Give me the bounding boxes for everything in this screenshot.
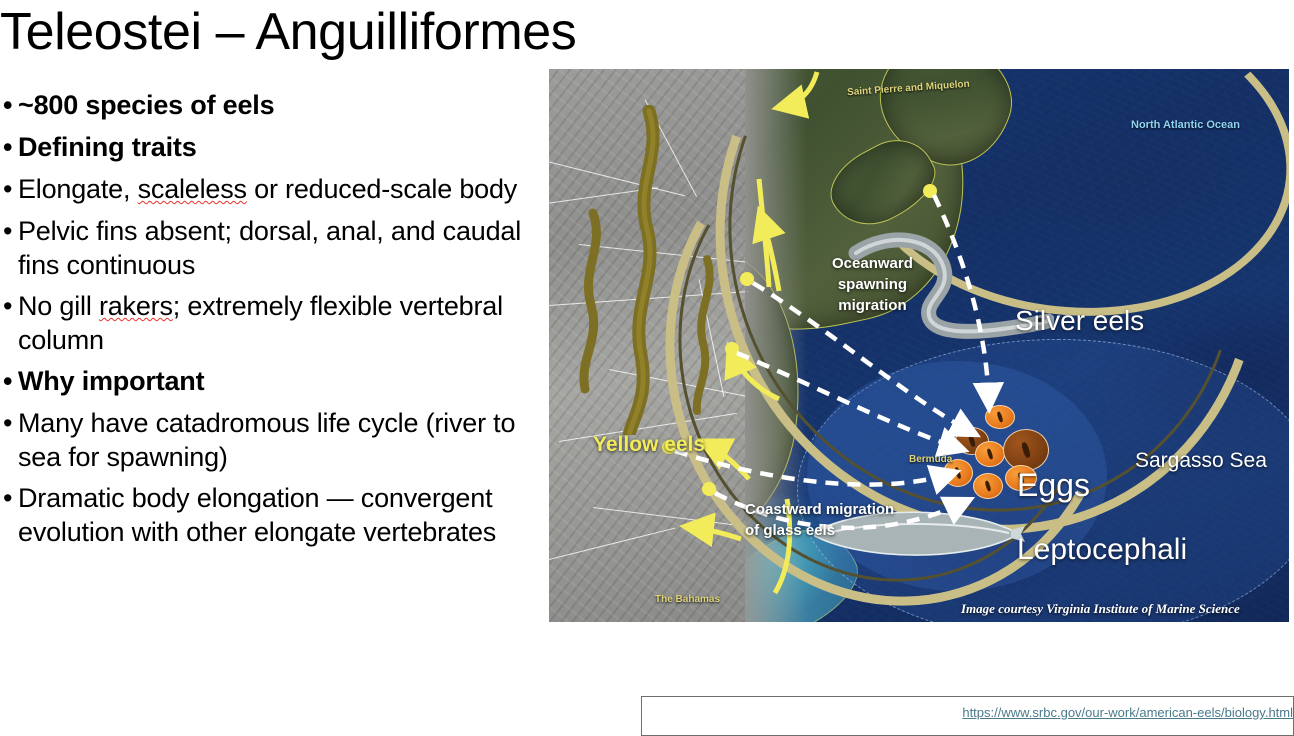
map-label-yellow-eels: Yellow eels <box>593 433 705 457</box>
map-label-coastward-migration: Coastward migration of glass eels <box>745 499 894 541</box>
bullet-text: Why important <box>18 364 530 398</box>
map-label-bahamas: The Bahamas <box>655 594 720 605</box>
bullet-text: Dramatic body elongation — convergent ev… <box>18 481 530 549</box>
map-label-leptocephali: Leptocephali <box>1017 533 1187 567</box>
bullet-text: Many have catadromous life cycle (river … <box>18 406 530 474</box>
bullet-item: •Many have catadromous life cycle (river… <box>0 406 530 474</box>
bullet-text: No gill rakers; extremely flexible verte… <box>18 289 530 357</box>
map-label-sargasso-sea: Sargasso Sea <box>1135 449 1267 473</box>
map-label-eggs: Eggs <box>1017 467 1090 504</box>
bullet-marker-icon: • <box>0 214 18 249</box>
bullet-item: •Why important <box>0 364 530 399</box>
eel-migration-map[interactable]: Silver eels Eggs Leptocephali Sargasso S… <box>549 69 1289 622</box>
bullet-marker-icon: • <box>0 481 18 516</box>
spellcheck-underline: rakers <box>99 291 173 321</box>
bullet-marker-icon: • <box>0 289 18 324</box>
spellcheck-underline: scaleless <box>138 174 247 204</box>
map-label-bermuda: Bermuda <box>909 454 952 465</box>
source-textbox[interactable]: https://www.srbc.gov/our-work/american-e… <box>641 696 1294 736</box>
bullet-item: •Elongate, scaleless or reduced-scale bo… <box>0 172 530 207</box>
map-label-oceanward-migration: Oceanward spawning migration <box>832 253 913 316</box>
bullet-marker-icon: • <box>0 364 18 399</box>
bullet-text: Defining traits <box>18 130 530 164</box>
bullet-marker-icon: • <box>0 172 18 207</box>
map-label-north-atlantic-ocean: North Atlantic Ocean <box>1131 119 1240 131</box>
bullet-item: •~800 species of eels <box>0 88 530 123</box>
page-title: Teleostei – Anguilliformes <box>0 2 576 62</box>
bullet-item: •Dramatic body elongation — convergent e… <box>0 481 530 549</box>
bullet-marker-icon: • <box>0 88 18 123</box>
map-label-silver-eels: Silver eels <box>1015 305 1144 337</box>
map-image-credit: Image courtesy Virginia Institute of Mar… <box>961 601 1240 617</box>
bullet-item: •No gill rakers; extremely flexible vert… <box>0 289 530 357</box>
bullet-item: •Pelvic fins absent; dorsal, anal, and c… <box>0 214 530 282</box>
source-url-link[interactable]: https://www.srbc.gov/our-work/american-e… <box>962 705 1293 720</box>
bullet-text: Elongate, scaleless or reduced-scale bod… <box>18 172 530 206</box>
bullet-text: ~800 species of eels <box>18 88 530 122</box>
bullet-list: •~800 species of eels•Defining traits•El… <box>0 88 530 556</box>
bullet-marker-icon: • <box>0 130 18 165</box>
bullet-marker-icon: • <box>0 406 18 441</box>
bullet-text: Pelvic fins absent; dorsal, anal, and ca… <box>18 214 530 282</box>
bullet-item: •Defining traits <box>0 130 530 165</box>
